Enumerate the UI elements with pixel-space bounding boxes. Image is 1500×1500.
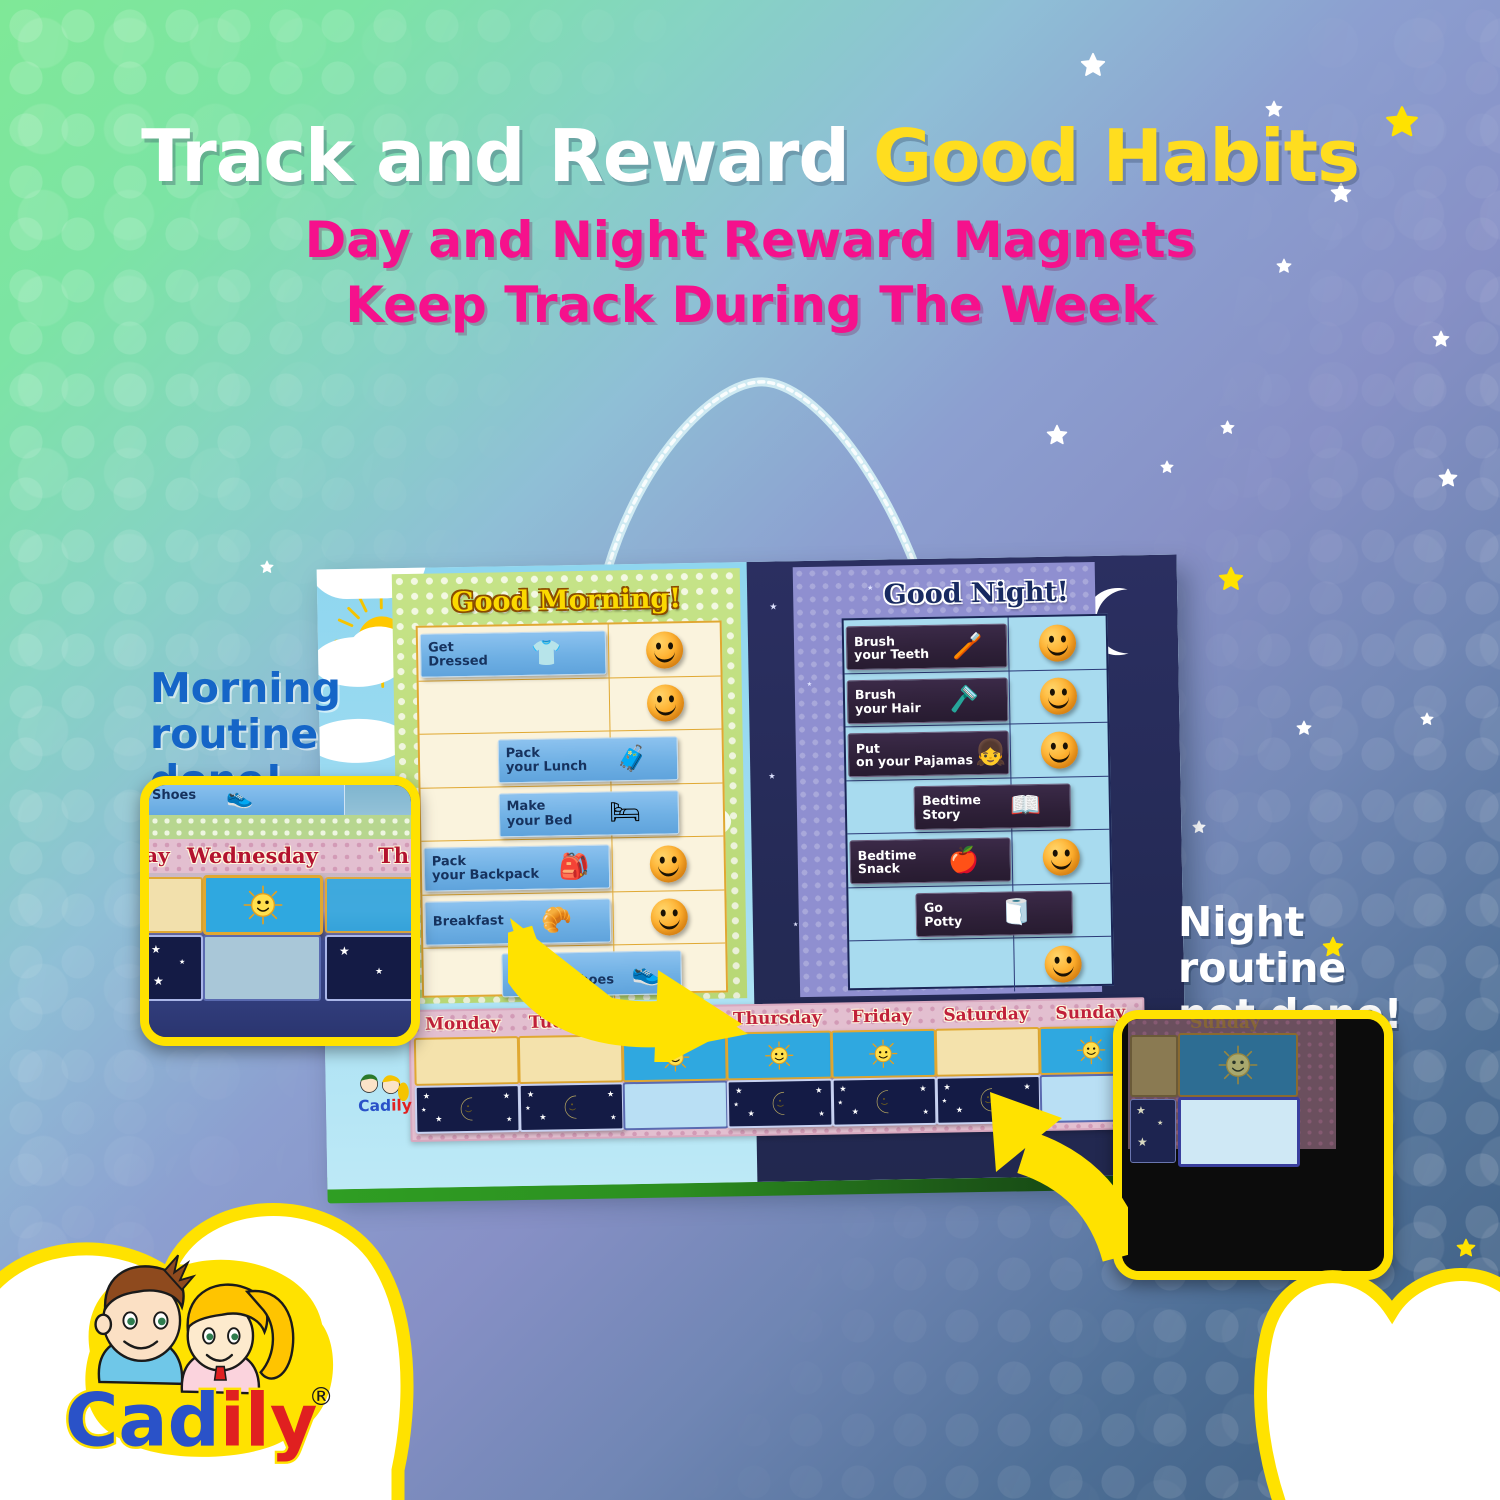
product-marketing-image: Track and Reward Good Habits Day and Nig…: [0, 0, 1500, 1500]
week-day-header-friday: Friday: [829, 1003, 934, 1031]
task-magnet[interactable]: Puton your Pajamas👧: [848, 730, 1010, 777]
decorative-star-icon: [1265, 100, 1283, 118]
task-slot[interactable]: BedtimeStory📖: [846, 778, 1011, 833]
chart-row: [419, 676, 722, 735]
task-magnet[interactable]: BedtimeStory📖: [914, 783, 1071, 830]
girl-character: [182, 1285, 293, 1394]
book-icon: 📖: [981, 792, 1070, 819]
chart-row: Brushyour Teeth🪥: [844, 616, 1107, 674]
night-panel-star-icon: ★: [769, 602, 777, 613]
week-day-slot-monday[interactable]: [414, 1036, 516, 1086]
week-night-slot-monday[interactable]: ★ ★ ★ ★ ★: [415, 1084, 517, 1134]
chart-row: BedtimeStory📖: [846, 776, 1109, 834]
night-panel-star-icon: ★: [793, 921, 799, 928]
decorative-star-icon: [1438, 468, 1458, 488]
fruit-icon: 🍎: [916, 847, 1010, 874]
task-magnet-label: BedtimeSnack: [851, 848, 917, 876]
task-magnet-label: GoPotty: [917, 900, 962, 928]
sun-face-icon: [1218, 1045, 1258, 1085]
zoom-shoes-magnet: Shoes 👟: [143, 781, 345, 817]
task-slot[interactable]: [849, 938, 1014, 993]
good-morning-title: Good Morning!: [392, 582, 740, 619]
task-magnet[interactable]: Packyour Lunch🧳: [497, 736, 678, 783]
week-night-slot-wednesday[interactable]: [623, 1081, 725, 1131]
zoom-night-sun-magnet: [1178, 1033, 1298, 1097]
pajamas-icon: 👧: [973, 740, 1009, 766]
moon-reward-magnet[interactable]: ★ ★ ★ ★ ★: [727, 1079, 833, 1129]
week-day-header-saturday: Saturday: [934, 1001, 1039, 1029]
zoom-shoes-label: Shoes: [152, 788, 196, 803]
shoes-icon: 👟: [226, 784, 253, 810]
decorative-star-icon: [1218, 566, 1244, 592]
decorative-star-icon: [1192, 820, 1206, 834]
chart-row: GetDressed👕: [418, 623, 721, 682]
moon-reward-magnet[interactable]: ★ ★ ★ ★ ★: [519, 1082, 625, 1132]
zoom-night-empty-day-slot: [1130, 1035, 1178, 1097]
hanging-cord: [600, 372, 930, 572]
zoom-empty-night-slot: [203, 935, 321, 1001]
task-magnet-label: Breakfast: [426, 915, 504, 930]
chart-row: [849, 937, 1112, 994]
decorative-star-icon: [1432, 330, 1450, 348]
zoom-moon-slot-left: ★ ★ ★: [141, 935, 203, 1001]
empty-day-slot[interactable]: [414, 1036, 520, 1086]
task-magnet-label: Puton your Pajamas: [849, 740, 973, 769]
brand-wordmark: Cadily: [65, 1378, 318, 1463]
morning-pointer-arrow: [508, 862, 758, 1062]
task-slot[interactable]: Brushyour Teeth🪥: [844, 617, 1009, 672]
morning-zoom-callout: Shoes 👟 ay Wednesday Th: [140, 776, 420, 1046]
smiley-face-magnet[interactable]: [1043, 838, 1081, 876]
lunchbox-icon: 🧳: [587, 746, 677, 773]
week-night-slot-tuesday[interactable]: ★ ★ ★ ★ ★: [519, 1082, 621, 1132]
week-day-slot-saturday[interactable]: [934, 1027, 1036, 1077]
chart-row: Brushyour Hair🪒: [845, 669, 1108, 727]
night-panel-star-icon: ★: [807, 681, 813, 688]
sun-reward-magnet[interactable]: [830, 1029, 936, 1079]
chart-row: Puton your Pajamas👧: [845, 723, 1108, 781]
week-night-slot-thursday[interactable]: ★ ★ ★ ★ ★: [727, 1079, 829, 1129]
decorative-star-icon: [1080, 52, 1106, 78]
task-magnet[interactable]: GoPotty🧻: [916, 890, 1073, 937]
crescent-moon-icon: [446, 1094, 489, 1125]
sun-face-icon: [764, 1040, 795, 1071]
zoom-empty-night-slot-highlight: [1178, 1097, 1300, 1167]
smiley-slot[interactable]: [608, 676, 721, 730]
smiley-slot[interactable]: [607, 623, 720, 677]
toothbrush-icon: 🪥: [929, 633, 1007, 659]
week-day-header-monday: Monday: [410, 1010, 515, 1038]
task-magnet[interactable]: Brushyour Hair🪒: [847, 677, 1009, 724]
task-slot[interactable]: BedtimeSnack🍎: [847, 831, 1012, 886]
decorative-star-icon: [1330, 182, 1352, 204]
night-panel-star-icon: ★: [768, 772, 775, 781]
smiley-slot[interactable]: [1008, 616, 1106, 670]
zoom-day-label: Wednesday: [187, 843, 318, 868]
registered-trademark-symbol: ®: [309, 1382, 334, 1411]
board-logo-graphic: Cadily: [345, 1070, 424, 1116]
shirt-icon: 👕: [488, 640, 606, 667]
smiley-face-magnet[interactable]: [1039, 624, 1077, 662]
moon-reward-magnet[interactable]: ★ ★ ★ ★ ★: [831, 1077, 937, 1127]
smiley-slot[interactable]: [1010, 723, 1108, 777]
smiley-face-magnet[interactable]: [1045, 945, 1083, 983]
crescent-moon-icon: [759, 1088, 802, 1119]
morning-zoom-content: Shoes 👟 ay Wednesday Th: [149, 785, 411, 1037]
empty-day-slot[interactable]: [934, 1027, 1040, 1077]
zoom-day-next: Th: [378, 843, 409, 868]
task-magnet[interactable]: BedtimeSnack🍎: [849, 837, 1011, 884]
good-night-title: Good Night!: [825, 575, 1127, 611]
decorative-star-icon: [260, 560, 274, 574]
task-magnet-label: Brushyour Hair: [848, 687, 921, 715]
chart-row: GoPotty🧻: [848, 883, 1111, 941]
chart-row: Makeyour Bed🛏: [420, 783, 723, 842]
decorative-star-icon: [1046, 424, 1068, 446]
zoom-day-prev: ay: [145, 843, 170, 867]
zoom-sun-magnet: [203, 875, 323, 935]
smiley-face-magnet[interactable]: [647, 684, 685, 722]
task-slot[interactable]: Puton your Pajamas👧: [845, 724, 1010, 779]
zoom-polka-band: [149, 815, 411, 839]
decorative-star-icon: [1276, 258, 1292, 274]
task-magnet-label: Brushyour Teeth: [847, 633, 929, 661]
decorative-star-icon: [1420, 712, 1434, 726]
task-magnet-label: Packyour Lunch: [499, 746, 588, 776]
svg-text:Cadily: Cadily: [358, 1096, 412, 1115]
decorative-star-icon: [1385, 105, 1419, 139]
task-magnet-label: Makeyour Bed: [499, 800, 572, 829]
zoom-night-day-label: Sunday: [1190, 1013, 1260, 1033]
zoom-night-moon-slot: ★ ★ ★: [1130, 1099, 1176, 1163]
chart-row: Packyour Lunch🧳: [420, 730, 723, 789]
sun-face-icon: [243, 885, 283, 925]
smiley-face-magnet[interactable]: [1040, 678, 1078, 716]
task-magnet-label: BedtimeStory: [915, 793, 981, 821]
callout-line: Night routine: [1178, 900, 1478, 992]
task-magnet[interactable]: Brushyour Teeth🪥: [846, 624, 1008, 671]
crescent-moon-icon: [551, 1092, 594, 1123]
zoom-empty-day-slot: [141, 877, 203, 933]
smiley-slot[interactable]: [1009, 669, 1107, 723]
empty-night-slot[interactable]: [623, 1080, 729, 1130]
week-night-slot-friday[interactable]: ★ ★ ★ ★ ★: [831, 1077, 933, 1127]
smiley-slot[interactable]: [1012, 830, 1110, 884]
moon-reward-magnet[interactable]: ★ ★ ★ ★ ★: [415, 1084, 521, 1134]
decorative-star-icon: [1220, 420, 1235, 435]
smiley-face-magnet[interactable]: [646, 631, 684, 669]
decorative-star-icon: [1296, 720, 1312, 736]
boy-character: [96, 1255, 194, 1384]
zoom-moon-slot-right: ★ ★: [325, 935, 420, 1001]
sun-face-icon: [868, 1038, 899, 1069]
smiley-face-magnet[interactable]: [1041, 731, 1079, 769]
smiley-slot[interactable]: [1014, 937, 1112, 991]
night-routine-chart[interactable]: Brushyour Teeth🪥Brushyour Hair🪒Puton you…: [842, 614, 1114, 991]
week-day-slot-friday[interactable]: [830, 1029, 932, 1079]
bed-icon: 🛏: [572, 799, 678, 826]
task-magnet[interactable]: Makeyour Bed🛏: [498, 790, 679, 837]
sun-face-icon: [1076, 1035, 1107, 1066]
decorative-star-icon: [1160, 460, 1174, 474]
task-slot[interactable]: GoPotty🧻: [848, 885, 1013, 940]
hairbrush-icon: 🪒: [920, 687, 1007, 714]
zoom-next-day-slot: [325, 877, 420, 933]
chart-row: BedtimeSnack🍎: [847, 830, 1110, 888]
cadily-brand-logo: Cadily ®: [40, 1236, 370, 1476]
zoom-day-header-band: ay Wednesday Th: [149, 839, 411, 873]
toiletpaper-icon: 🧻: [962, 899, 1072, 926]
crescent-moon-icon: [863, 1086, 906, 1117]
board-brand-logo: Cadily: [345, 1070, 424, 1121]
task-slot[interactable]: Brushyour Hair🪒: [845, 671, 1010, 726]
callout-line: Morning: [150, 666, 450, 712]
